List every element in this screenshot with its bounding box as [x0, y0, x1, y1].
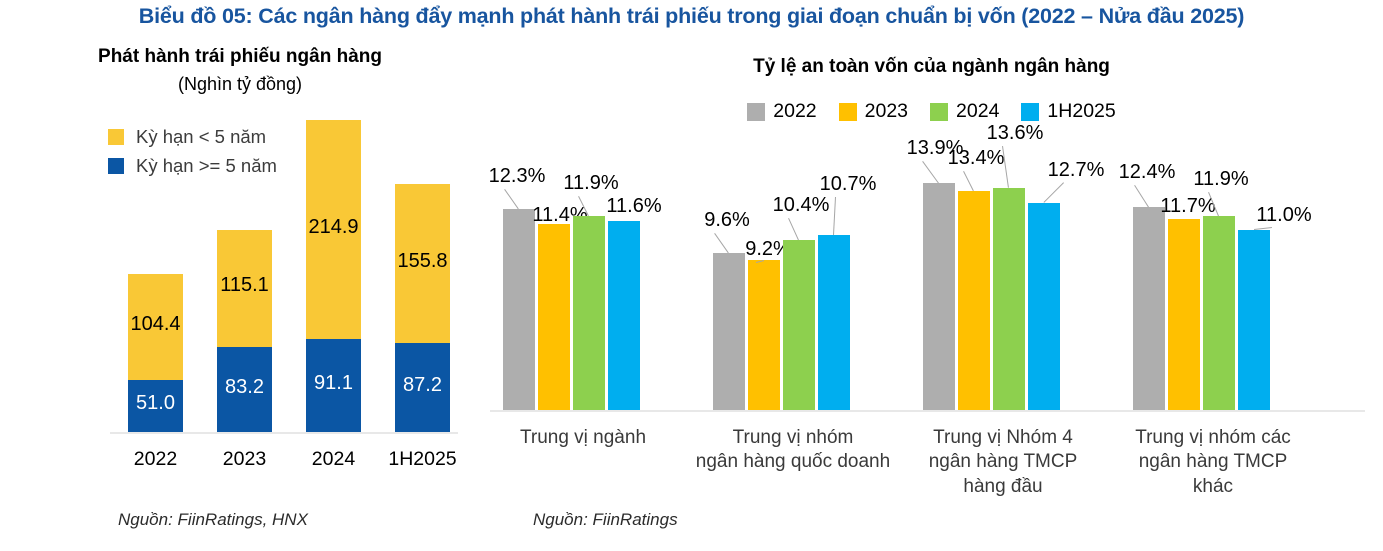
x-axis-label: 2022	[108, 448, 203, 471]
bar-value-label: 11.6%	[589, 195, 679, 218]
bar-value-short-tenor: 214.9	[292, 216, 375, 239]
category-label: Trung vị Nhóm 4ngân hàng TMCPhàng đầu	[888, 426, 1118, 499]
x-axis-label: 2023	[197, 448, 292, 471]
category-label: Trung vị nhóm cácngân hàng TMCPkhác	[1098, 426, 1328, 499]
bar-value-label: 11.9%	[546, 172, 636, 195]
category-label-line: khác	[1098, 475, 1328, 499]
bar-value-long-tenor: 51.0	[114, 392, 197, 415]
bar-value-short-tenor: 155.8	[381, 250, 464, 273]
x-axis-label: 1H2025	[375, 448, 470, 471]
bar-2023[interactable]	[538, 224, 570, 410]
value-leader-line	[963, 171, 974, 191]
left-chart-plot-area: 51.0104.4202283.2115.1202391.1214.920248…	[0, 0, 480, 470]
bar-value-label: 10.7%	[803, 173, 893, 196]
right-chart-axis-line	[490, 410, 1365, 412]
bar-2022[interactable]	[1133, 207, 1165, 410]
category-label: Trung vị ngành	[468, 426, 698, 450]
bar-value-short-tenor: 104.4	[114, 313, 197, 336]
category-label: Trung vị nhómngân hàng quốc doanh	[678, 426, 908, 475]
bar-1h2025[interactable]	[818, 235, 850, 410]
category-label-line: ngân hàng quốc doanh	[678, 450, 908, 474]
bar-2024[interactable]	[1203, 216, 1235, 410]
bar-2023[interactable]	[748, 260, 780, 410]
bar-2024[interactable]	[573, 216, 605, 410]
bond-issuance-chart-panel: Phát hành trái phiếu ngân hàng (Nghìn tỷ…	[0, 0, 480, 551]
left-chart-source: Nguồn: FiinRatings, HNX	[118, 510, 308, 530]
category-label-line: Trung vị nhóm các	[1098, 426, 1328, 450]
category-label-line: Trung vị ngành	[468, 426, 698, 450]
category-label-line: Trung vị nhóm	[678, 426, 908, 450]
bar-value-long-tenor: 87.2	[381, 374, 464, 397]
bar-1h2025[interactable]	[1238, 230, 1270, 410]
bar-2024[interactable]	[783, 240, 815, 410]
category-label-line: ngân hàng TMCP	[888, 450, 1118, 474]
car-ratio-chart-panel: Tỷ lệ an toàn vốn của ngành ngân hàng 20…	[480, 0, 1383, 551]
bar-value-label: 11.9%	[1176, 168, 1266, 191]
bar-2023[interactable]	[1168, 219, 1200, 410]
bar-2022[interactable]	[713, 253, 745, 410]
category-label-line: Trung vị Nhóm 4	[888, 426, 1118, 450]
bar-2024[interactable]	[993, 188, 1025, 410]
bar-value-short-tenor: 115.1	[203, 274, 286, 297]
left-chart-axis-line	[110, 432, 458, 434]
bar-2023[interactable]	[958, 191, 990, 410]
bar-value-label: 11.7%	[1143, 195, 1233, 218]
right-chart-source: Nguồn: FiinRatings	[533, 510, 678, 530]
bar-value-long-tenor: 83.2	[203, 376, 286, 399]
bar-2022[interactable]	[503, 209, 535, 410]
bar-1h2025[interactable]	[608, 221, 640, 410]
bar-2022[interactable]	[923, 183, 955, 410]
value-leader-line	[1043, 182, 1064, 203]
x-axis-label: 2024	[286, 448, 381, 471]
bar-1h2025[interactable]	[1028, 203, 1060, 410]
category-label-line: hàng đầu	[888, 475, 1118, 499]
bar-value-label: 13.6%	[970, 122, 1060, 145]
category-label-line: ngân hàng TMCP	[1098, 450, 1328, 474]
bar-value-long-tenor: 91.1	[292, 372, 375, 395]
right-chart-plot-area: 12.3%11.4%11.9%11.6%Trung vị ngành9.6%9.…	[480, 0, 1383, 470]
bar-value-label: 11.0%	[1239, 204, 1329, 227]
bar-value-label: 10.4%	[756, 194, 846, 217]
bar-value-label: 13.4%	[931, 147, 1021, 170]
